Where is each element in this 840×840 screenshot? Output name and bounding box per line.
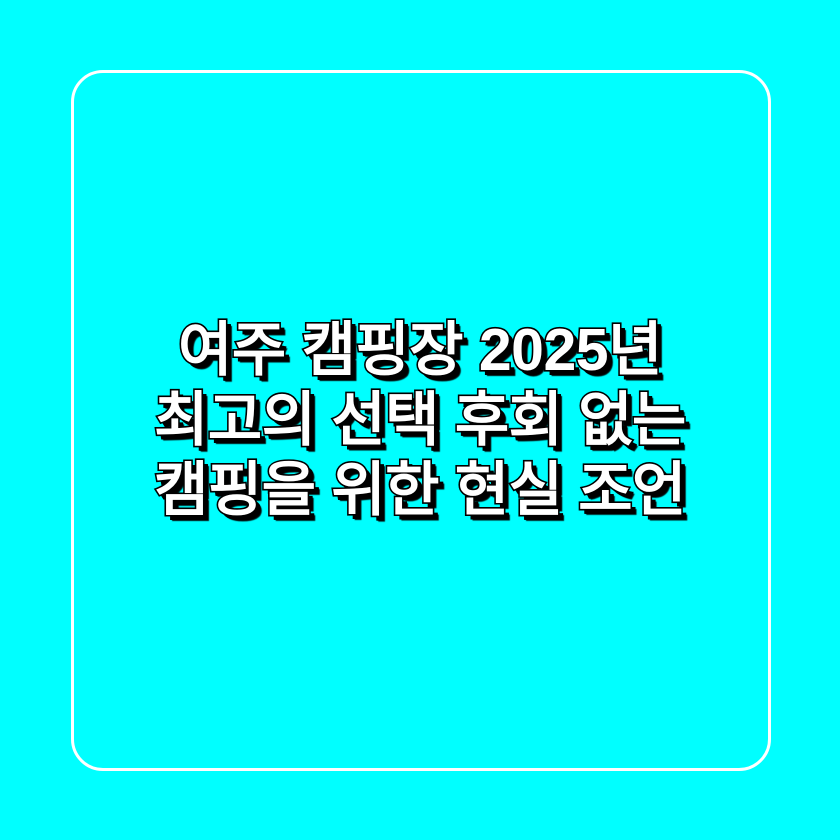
headline-line-1: 여주 캠핑장 2025년 [88, 315, 752, 385]
headline-line-2: 최고의 선택 후회 없는 [88, 385, 752, 455]
headline-block: 여주 캠핑장 2025년 최고의 선택 후회 없는 캠핑을 위한 현실 조언 [0, 0, 840, 840]
headline-line-3: 캠핑을 위한 현실 조언 [88, 455, 752, 525]
thumbnail-card: 여주 캠핑장 2025년 최고의 선택 후회 없는 캠핑을 위한 현실 조언 [0, 0, 840, 840]
